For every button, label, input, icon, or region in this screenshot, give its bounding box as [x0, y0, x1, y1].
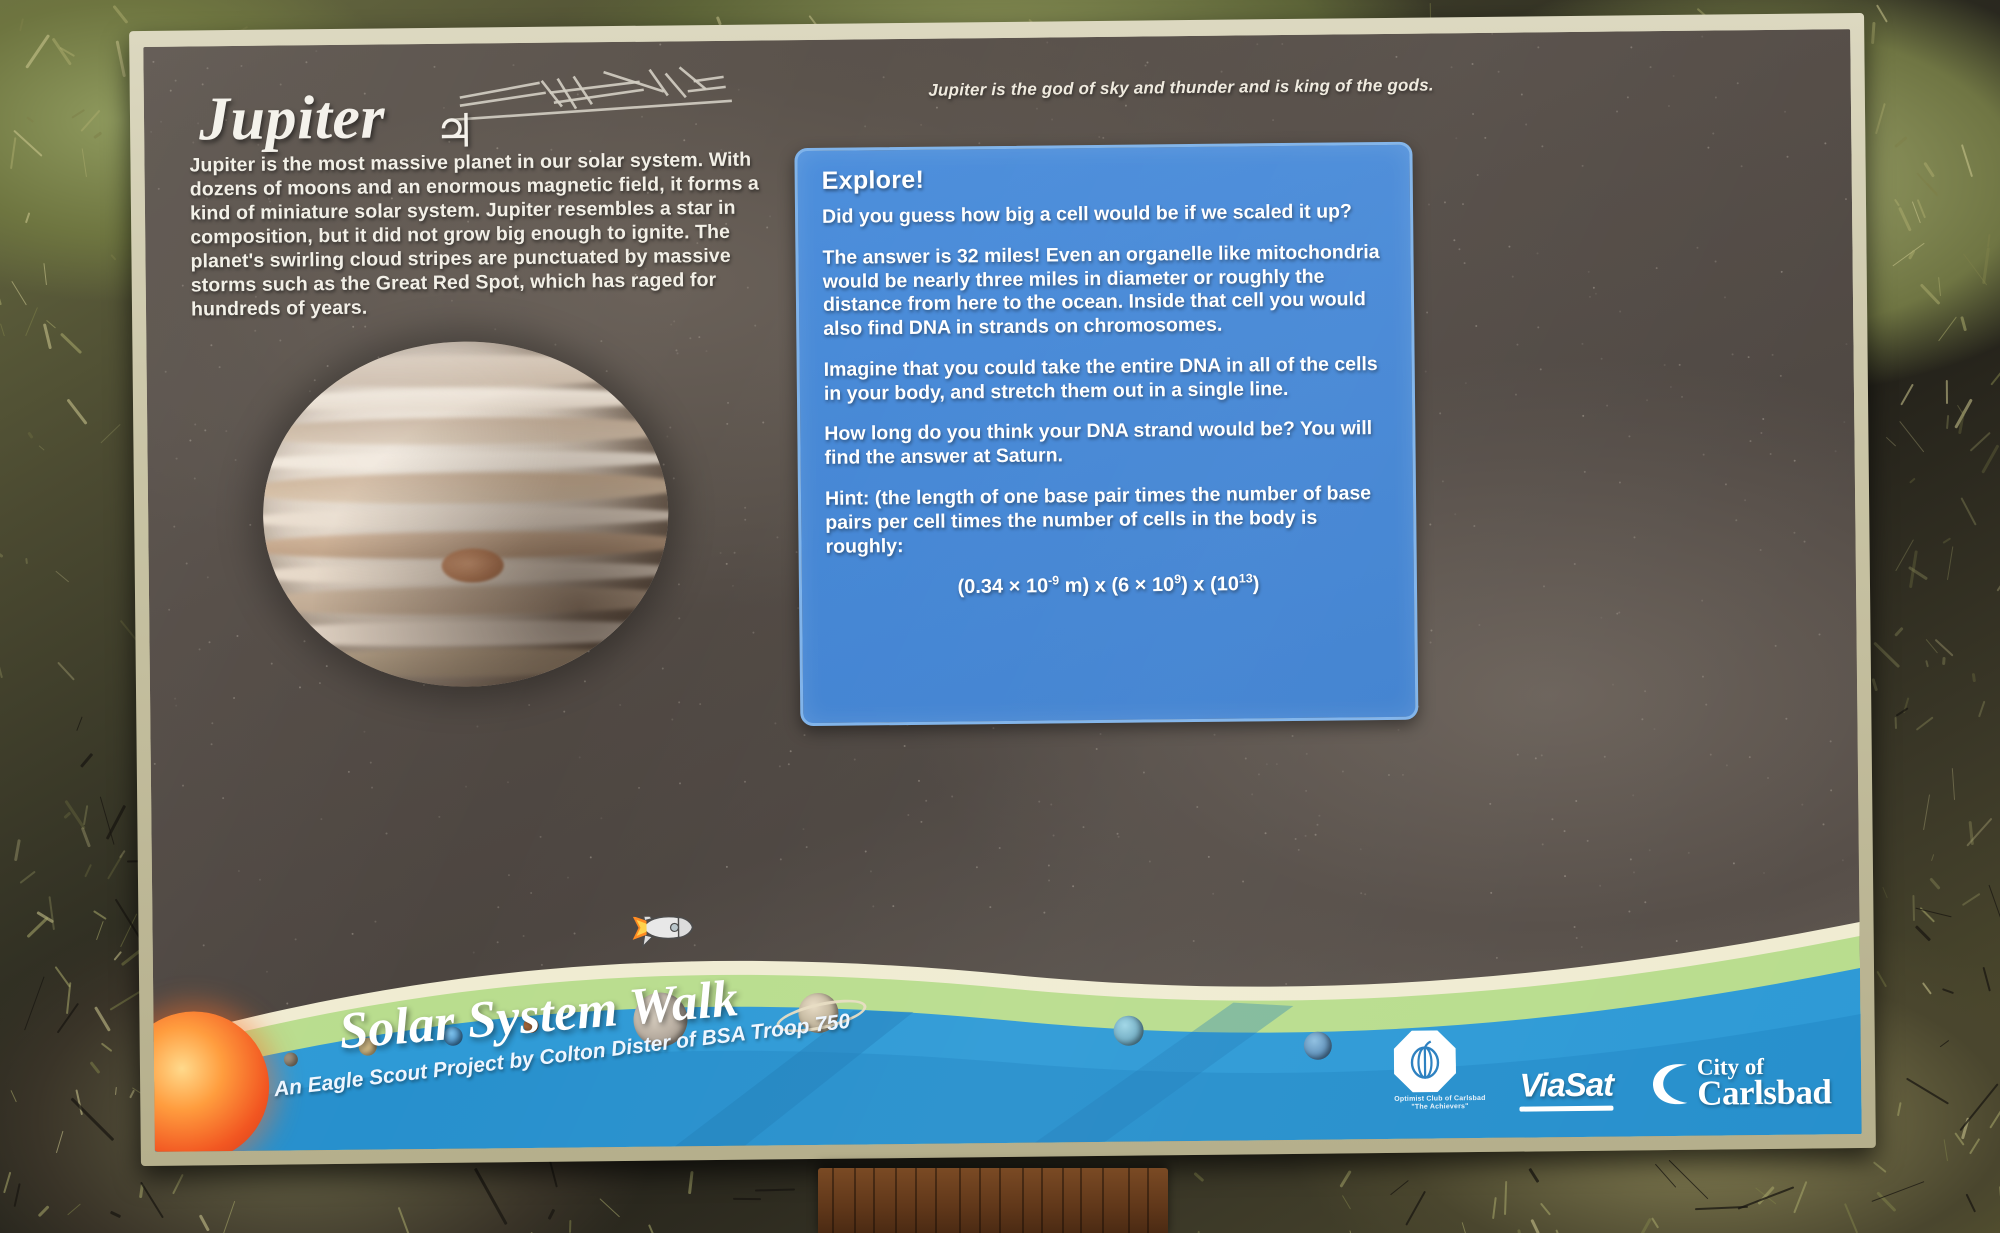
sponsor-logos: Optimist Club of Carlsbad "The Achievers…	[1394, 1026, 1832, 1113]
formula-exp-c: 13	[1239, 572, 1253, 586]
carlsbad-name-label: Carlsbad	[1697, 1076, 1831, 1110]
formula-exp-a: -9	[1048, 574, 1059, 588]
formula-part-c: ) x (10	[1181, 574, 1239, 597]
jupiter-symbol-icon: ♃	[434, 103, 476, 157]
carlsbad-wave-icon	[1647, 1057, 1692, 1109]
formula-part-b: m) x (6 × 10	[1059, 574, 1174, 597]
jupiter-planet-image	[261, 340, 670, 689]
optimist-octagon-icon	[1394, 1030, 1457, 1093]
interpretive-sign: Jupiter ♃ Jupiter is the god of sky and …	[129, 13, 1876, 1166]
formula-part-d: )	[1253, 573, 1260, 595]
explore-paragraph-2: The answer is 32 miles! Even an organell…	[822, 241, 1388, 342]
explore-paragraph-3: Imagine that you could take the entire D…	[824, 353, 1389, 406]
page-title: Jupiter	[199, 82, 386, 155]
formula-part-a: (0.34 × 10	[957, 576, 1048, 599]
solar-system-walk-banner: Solar System Walk An Eagle Scout Project…	[152, 904, 1861, 1152]
optimist-line-2: "The Achievers"	[1394, 1103, 1485, 1113]
planet-mercury-icon	[284, 1052, 298, 1066]
planet-uranus-icon	[1113, 1016, 1143, 1046]
rocket-icon	[622, 906, 698, 949]
planet-neptune-icon	[1304, 1032, 1332, 1060]
carlsbad-logo: City of Carlsbad	[1647, 1055, 1832, 1110]
tagline: Jupiter is the god of sky and thunder an…	[834, 75, 1434, 101]
sign-post	[818, 1168, 1168, 1233]
explore-body: Did you guess how big a cell would be if…	[822, 200, 1391, 601]
explore-panel: Explore! Did you guess how big a cell wo…	[794, 142, 1418, 726]
photo-scene: Jupiter ♃ Jupiter is the god of sky and …	[0, 0, 2000, 1233]
sign-face: Jupiter ♃ Jupiter is the god of sky and …	[143, 29, 1861, 1152]
explore-heading: Explore!	[822, 166, 925, 196]
explore-paragraph-1: Did you guess how big a cell would be if…	[822, 200, 1387, 230]
viasat-logo: ViaSat	[1519, 1066, 1613, 1112]
explore-paragraph-4: How long do you think your DNA strand wo…	[824, 417, 1389, 470]
viasat-wordmark: ViaSat	[1519, 1066, 1613, 1105]
viasat-underline	[1520, 1106, 1614, 1112]
scratch-marks-icon	[453, 61, 734, 126]
optimist-logo-caption: Optimist Club of Carlsbad "The Achievers…	[1394, 1094, 1486, 1112]
explore-paragraph-5: Hint: (the length of one base pair times…	[825, 482, 1391, 559]
explore-formula: (0.34 × 10-9 m) x (6 × 109) x (1013)	[826, 570, 1391, 601]
optimist-logo: Optimist Club of Carlsbad "The Achievers…	[1394, 1029, 1486, 1112]
body-paragraph: Jupiter is the most massive planet in ou…	[189, 148, 781, 322]
